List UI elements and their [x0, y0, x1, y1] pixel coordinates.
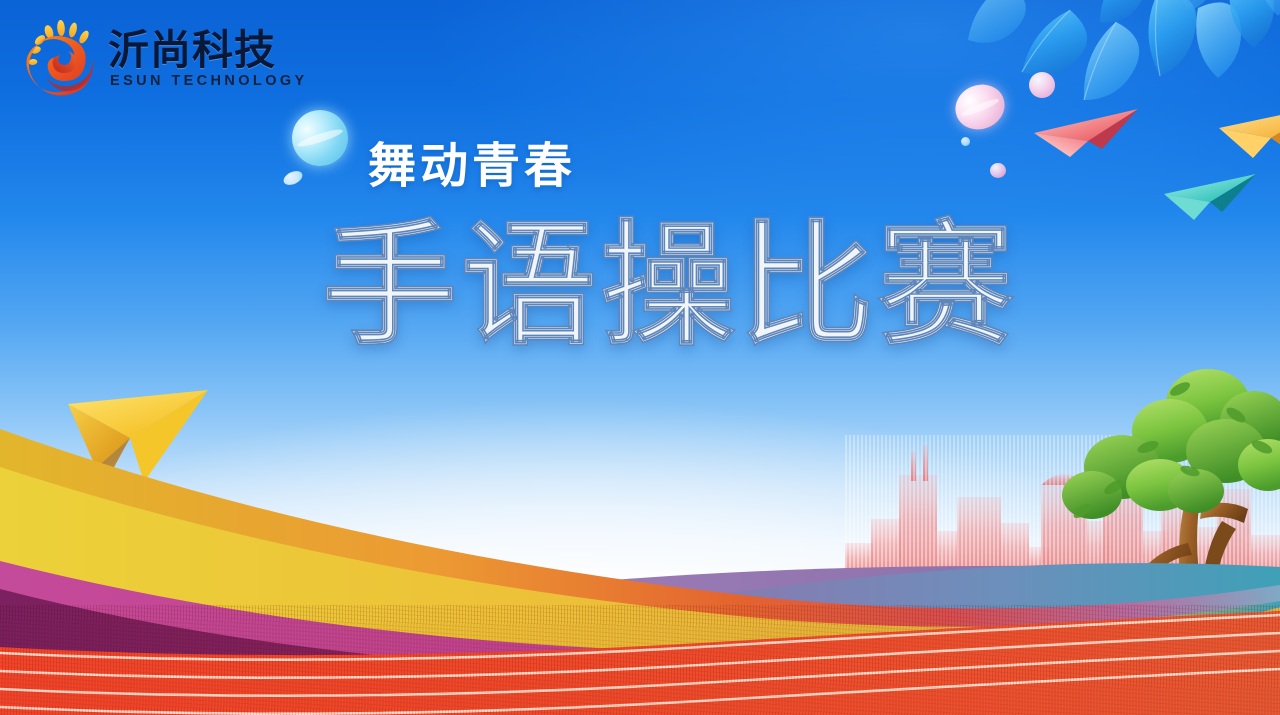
- brand-logo-text: 沂尚科技 ESUN TECHNOLOGY: [108, 30, 308, 89]
- poster-subtitle: 舞动青春: [368, 126, 576, 196]
- brand-logo[interactable]: 沂尚科技 ESUN TECHNOLOGY: [22, 20, 308, 98]
- pink-balloon-tiny: [990, 163, 1006, 178]
- brand-name-en: ESUN TECHNOLOGY: [110, 74, 308, 89]
- ground-waves: [0, 375, 1280, 715]
- blue-bubble-balloon: [285, 103, 356, 174]
- pink-balloon-small: [1029, 72, 1055, 98]
- paper-plane-teal: [1160, 170, 1270, 231]
- paper-plane-red: [1030, 105, 1150, 170]
- brand-name-cn: 沂尚科技: [108, 30, 308, 71]
- blue-bubble-small: [281, 168, 304, 187]
- paper-plane-orange: [1215, 102, 1280, 169]
- poster-canvas: 沂尚科技 ESUN TECHNOLOGY 舞动青春 手语操比赛: [0, 0, 1280, 715]
- poster-main-title: 手语操比赛: [322, 218, 1017, 353]
- sun-swirl-logo-icon: [22, 20, 106, 98]
- blue-dot-balloon: [961, 137, 970, 146]
